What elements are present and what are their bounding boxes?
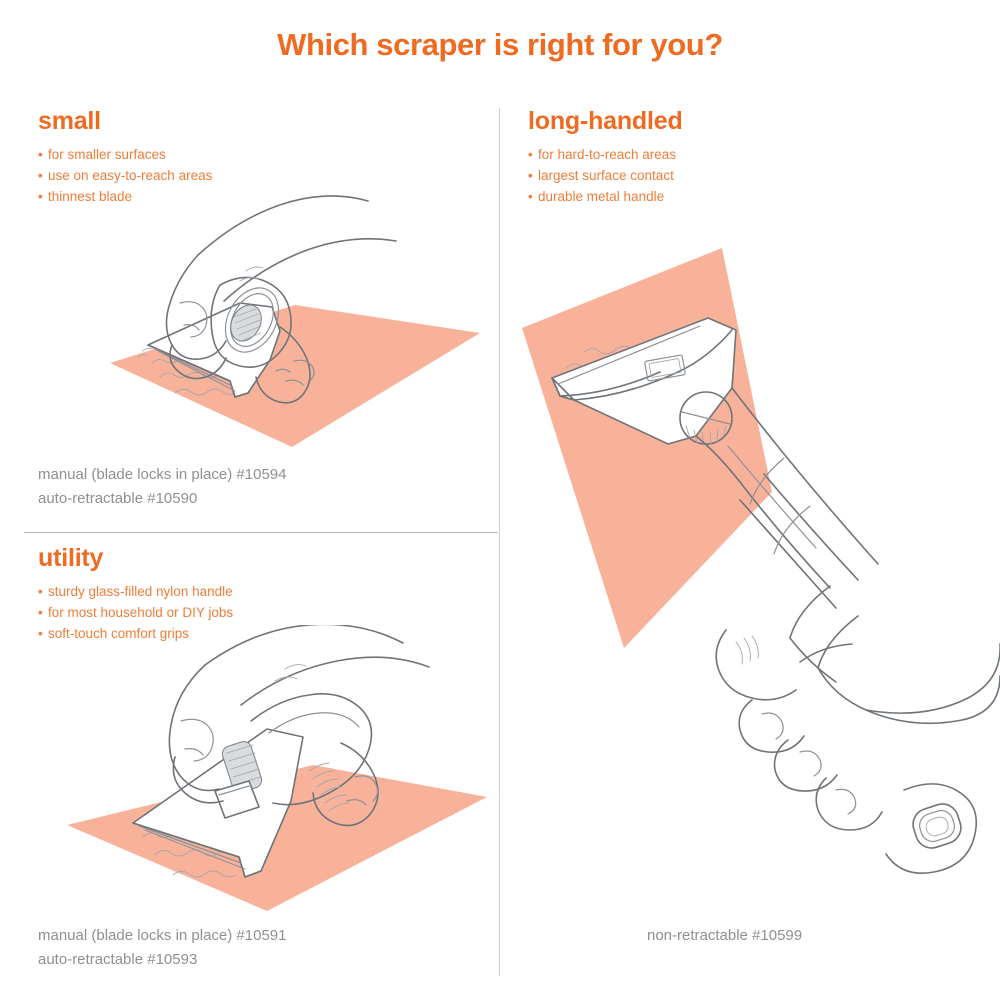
- list-item: thinnest blade: [38, 186, 212, 207]
- list-item: for most household or DIY jobs: [38, 602, 233, 623]
- list-item: for smaller surfaces: [38, 144, 212, 165]
- bullet-list-utility: sturdy glass-filled nylon handle for mos…: [38, 581, 233, 644]
- panel-heading-utility: utility: [38, 545, 103, 573]
- list-item: durable metal handle: [528, 186, 676, 207]
- caption-line: auto-retractable #10590: [38, 487, 287, 511]
- list-item: use on easy-to-reach areas: [38, 165, 212, 186]
- list-item: sturdy glass-filled nylon handle: [38, 581, 233, 602]
- list-item: soft-touch comfort grips: [38, 623, 233, 644]
- caption-line: manual (blade locks in place) #10591: [38, 924, 287, 948]
- caption-line: non-retractable #10599: [647, 924, 802, 948]
- panel-long-handled: [500, 96, 1000, 1000]
- bullet-list-small: for smaller surfaces use on easy-to-reac…: [38, 144, 212, 207]
- caption-line: manual (blade locks in place) #10594: [38, 463, 287, 487]
- list-item: for hard-to-reach areas: [528, 144, 676, 165]
- caption-utility: manual (blade locks in place) #10591 aut…: [38, 924, 287, 972]
- infographic-page: Which scraper is right for you? small fo…: [0, 0, 1000, 1000]
- caption-small: manual (blade locks in place) #10594 aut…: [38, 463, 287, 511]
- caption-long-handled: non-retractable #10599: [647, 924, 802, 948]
- panel-heading-small: small: [38, 108, 101, 136]
- panel-heading-long-handled: long-handled: [528, 108, 683, 136]
- caption-line: auto-retractable #10593: [38, 948, 287, 972]
- list-item: largest surface contact: [528, 165, 676, 186]
- page-title: Which scraper is right for you?: [0, 28, 1000, 62]
- bullet-list-long-handled: for hard-to-reach areas largest surface …: [528, 144, 676, 207]
